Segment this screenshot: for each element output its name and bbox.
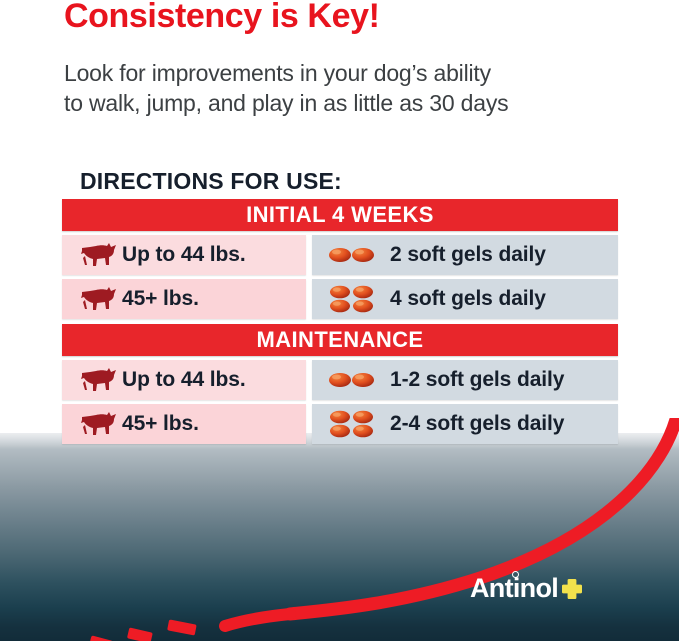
dose-cell: 2 soft gels daily <box>312 235 618 275</box>
subheadline-line-2: to walk, jump, and play in as little as … <box>64 88 634 118</box>
dose-cell: 1-2 soft gels daily <box>312 360 618 400</box>
dog-icon <box>76 366 118 394</box>
page-subheadline: Look for improvements in your dog’s abil… <box>64 58 634 118</box>
weight-cell: Up to 44 lbs. <box>62 235 306 275</box>
red-swoosh-graphic <box>0 418 679 641</box>
table-row: Up to 44 lbs. 2 soft ge <box>62 235 618 275</box>
weight-label: Up to 44 lbs. <box>122 368 246 392</box>
table-row: 45+ lbs. <box>62 404 618 444</box>
dose-label: 2-4 soft gels daily <box>390 412 564 436</box>
dose-label: 1-2 soft gels daily <box>390 368 564 392</box>
table-row: 45+ lbs. <box>62 279 618 319</box>
table-section-header-maintenance: MAINTENANCE <box>62 324 618 356</box>
dose-label: 2 soft gels daily <box>390 243 546 267</box>
weight-cell: 45+ lbs. <box>62 279 306 319</box>
brand-logo: Antinol <box>470 575 584 602</box>
dose-cell: 2-4 soft gels daily <box>312 404 618 444</box>
dose-cell: 4 soft gels daily <box>312 279 618 319</box>
weight-cell: Up to 44 lbs. <box>62 360 306 400</box>
dose-label: 4 soft gels daily <box>390 287 546 311</box>
page-headline: Consistency is Key! <box>64 0 624 38</box>
weight-label: Up to 44 lbs. <box>122 243 246 267</box>
brand-degree-dot-icon <box>512 571 519 578</box>
dog-icon <box>76 285 118 313</box>
dosing-table: INITIAL 4 WEEKS Up to 44 lbs. <box>62 199 618 444</box>
dog-icon <box>76 410 118 438</box>
promo-graphic: Consistency is Key! Look for improvement… <box>0 0 679 641</box>
soft-gel-icon <box>326 283 378 315</box>
dog-icon <box>76 241 118 269</box>
plus-icon <box>560 577 584 601</box>
brand-wordmark: Antinol <box>470 575 558 602</box>
weight-label: 45+ lbs. <box>122 412 199 436</box>
directions-heading: DIRECTIONS FOR USE: <box>80 168 342 195</box>
table-row: Up to 44 lbs. 1-2 soft <box>62 360 618 400</box>
weight-cell: 45+ lbs. <box>62 404 306 444</box>
subheadline-line-1: Look for improvements in your dog’s abil… <box>64 60 491 86</box>
weight-label: 45+ lbs. <box>122 287 199 311</box>
soft-gel-icon <box>326 408 378 440</box>
soft-gel-icon <box>326 239 378 271</box>
soft-gel-icon <box>326 364 378 396</box>
table-section-header-initial: INITIAL 4 WEEKS <box>62 199 618 231</box>
